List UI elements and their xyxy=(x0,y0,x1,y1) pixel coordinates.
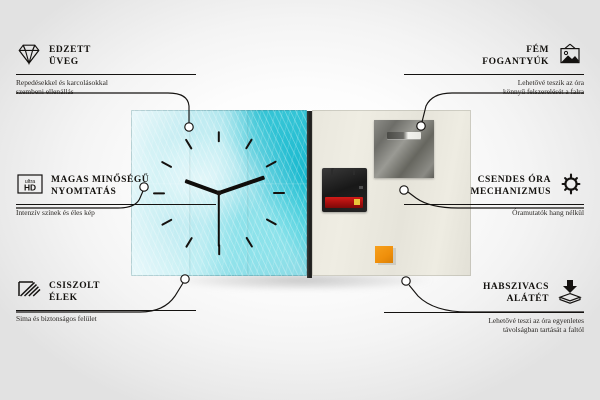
feature-desc-line1: Óramutatók hang nélkül xyxy=(404,208,584,217)
mechanism-switch xyxy=(359,186,363,189)
product-feature-infographic: EDZETT ÜVEG Repedésekkel és karcolásokka… xyxy=(0,0,600,400)
ultra-hd-icon: ultra HD xyxy=(16,172,44,201)
divider xyxy=(16,204,216,205)
feature-title-line2: FOGANTYÚK xyxy=(482,57,549,69)
feature-high-quality-print: ultra HD MAGAS MINŐSÉGŰ NYOMTATÁS Intenz… xyxy=(16,172,216,217)
metal-hanger xyxy=(374,120,434,178)
hour-tick xyxy=(185,237,193,248)
feature-desc-line1: Sima és biztonságos felület xyxy=(16,314,196,323)
picture-frame-hook-icon xyxy=(556,42,584,71)
hour-tick xyxy=(265,218,277,226)
feature-title-line1: HABSZIVACS xyxy=(483,282,549,294)
hanger-slot xyxy=(387,132,421,139)
svg-text:HD: HD xyxy=(24,183,36,193)
feature-desc-line1: Lehetővé teszik az óra xyxy=(404,78,584,87)
battery xyxy=(325,197,363,208)
divider xyxy=(16,74,196,75)
divider xyxy=(404,74,584,75)
hour-tick xyxy=(161,218,173,226)
feature-title-line1: EDZETT xyxy=(49,45,91,57)
hour-tick xyxy=(265,161,277,169)
feature-title-line2: ÜVEG xyxy=(49,57,91,69)
diamond-icon xyxy=(16,42,42,71)
feature-title-line1: CSISZOLT xyxy=(49,281,100,293)
feature-title-line2: ÉLEK xyxy=(49,293,100,305)
feature-tempered-glass: EDZETT ÜVEG Repedésekkel és karcolásokka… xyxy=(16,42,196,96)
diagonal-lines-icon xyxy=(16,278,42,307)
feature-desc-line2: távolságban tartását a faltól xyxy=(384,325,584,334)
feature-title-line2: ALÁTÉT xyxy=(483,294,549,306)
feature-desc-line2: könnyű felszerelését a falra xyxy=(404,87,584,96)
feature-title-line2: MECHANIZMUS xyxy=(471,187,551,199)
mechanism-bail xyxy=(331,168,355,175)
feature-desc-line1: Intenzív színek és éles kép xyxy=(16,208,216,217)
hour-tick xyxy=(245,138,253,149)
feature-title-line1: MAGAS MINŐSÉGŰ xyxy=(51,175,149,187)
hour-tick xyxy=(245,237,253,248)
feature-polished-edges: CSISZOLT ÉLEK Sima és biztonságos felüle… xyxy=(16,278,196,323)
feature-title-line2: NYOMTATÁS xyxy=(51,187,149,199)
foam-pad xyxy=(375,246,393,263)
hour-tick xyxy=(273,192,285,194)
hour-tick xyxy=(185,138,193,149)
second-hand xyxy=(218,193,220,247)
feature-title-line1: CSENDES ÓRA xyxy=(471,175,551,187)
minute-hand xyxy=(218,176,265,195)
divider xyxy=(404,204,584,205)
feature-desc-line2: szembeni ellenállás xyxy=(16,87,196,96)
hour-tick xyxy=(161,161,173,169)
divider xyxy=(16,310,196,311)
feature-metal-handles: FÉM FOGANTYÚK Lehetővé teszik az óra kön… xyxy=(404,42,584,96)
feature-foam-backing: HABSZIVACS ALÁTÉT Lehetővé teszi az óra … xyxy=(384,278,584,334)
divider xyxy=(384,312,584,313)
feature-desc-line1: Lehetővé teszi az óra egyenletes xyxy=(384,316,584,325)
clock-mechanism xyxy=(322,168,367,212)
feature-desc-line1: Repedésekkel és karcolásokkal xyxy=(16,78,196,87)
arrow-into-pad-icon xyxy=(556,278,584,309)
feature-title-line1: FÉM xyxy=(482,45,549,57)
feature-silent-mechanism: CSENDES ÓRA MECHANIZMUS Óramutatók hang … xyxy=(404,172,584,217)
hour-tick xyxy=(218,130,220,141)
gear-icon xyxy=(558,172,584,201)
hands-hub xyxy=(217,191,222,196)
